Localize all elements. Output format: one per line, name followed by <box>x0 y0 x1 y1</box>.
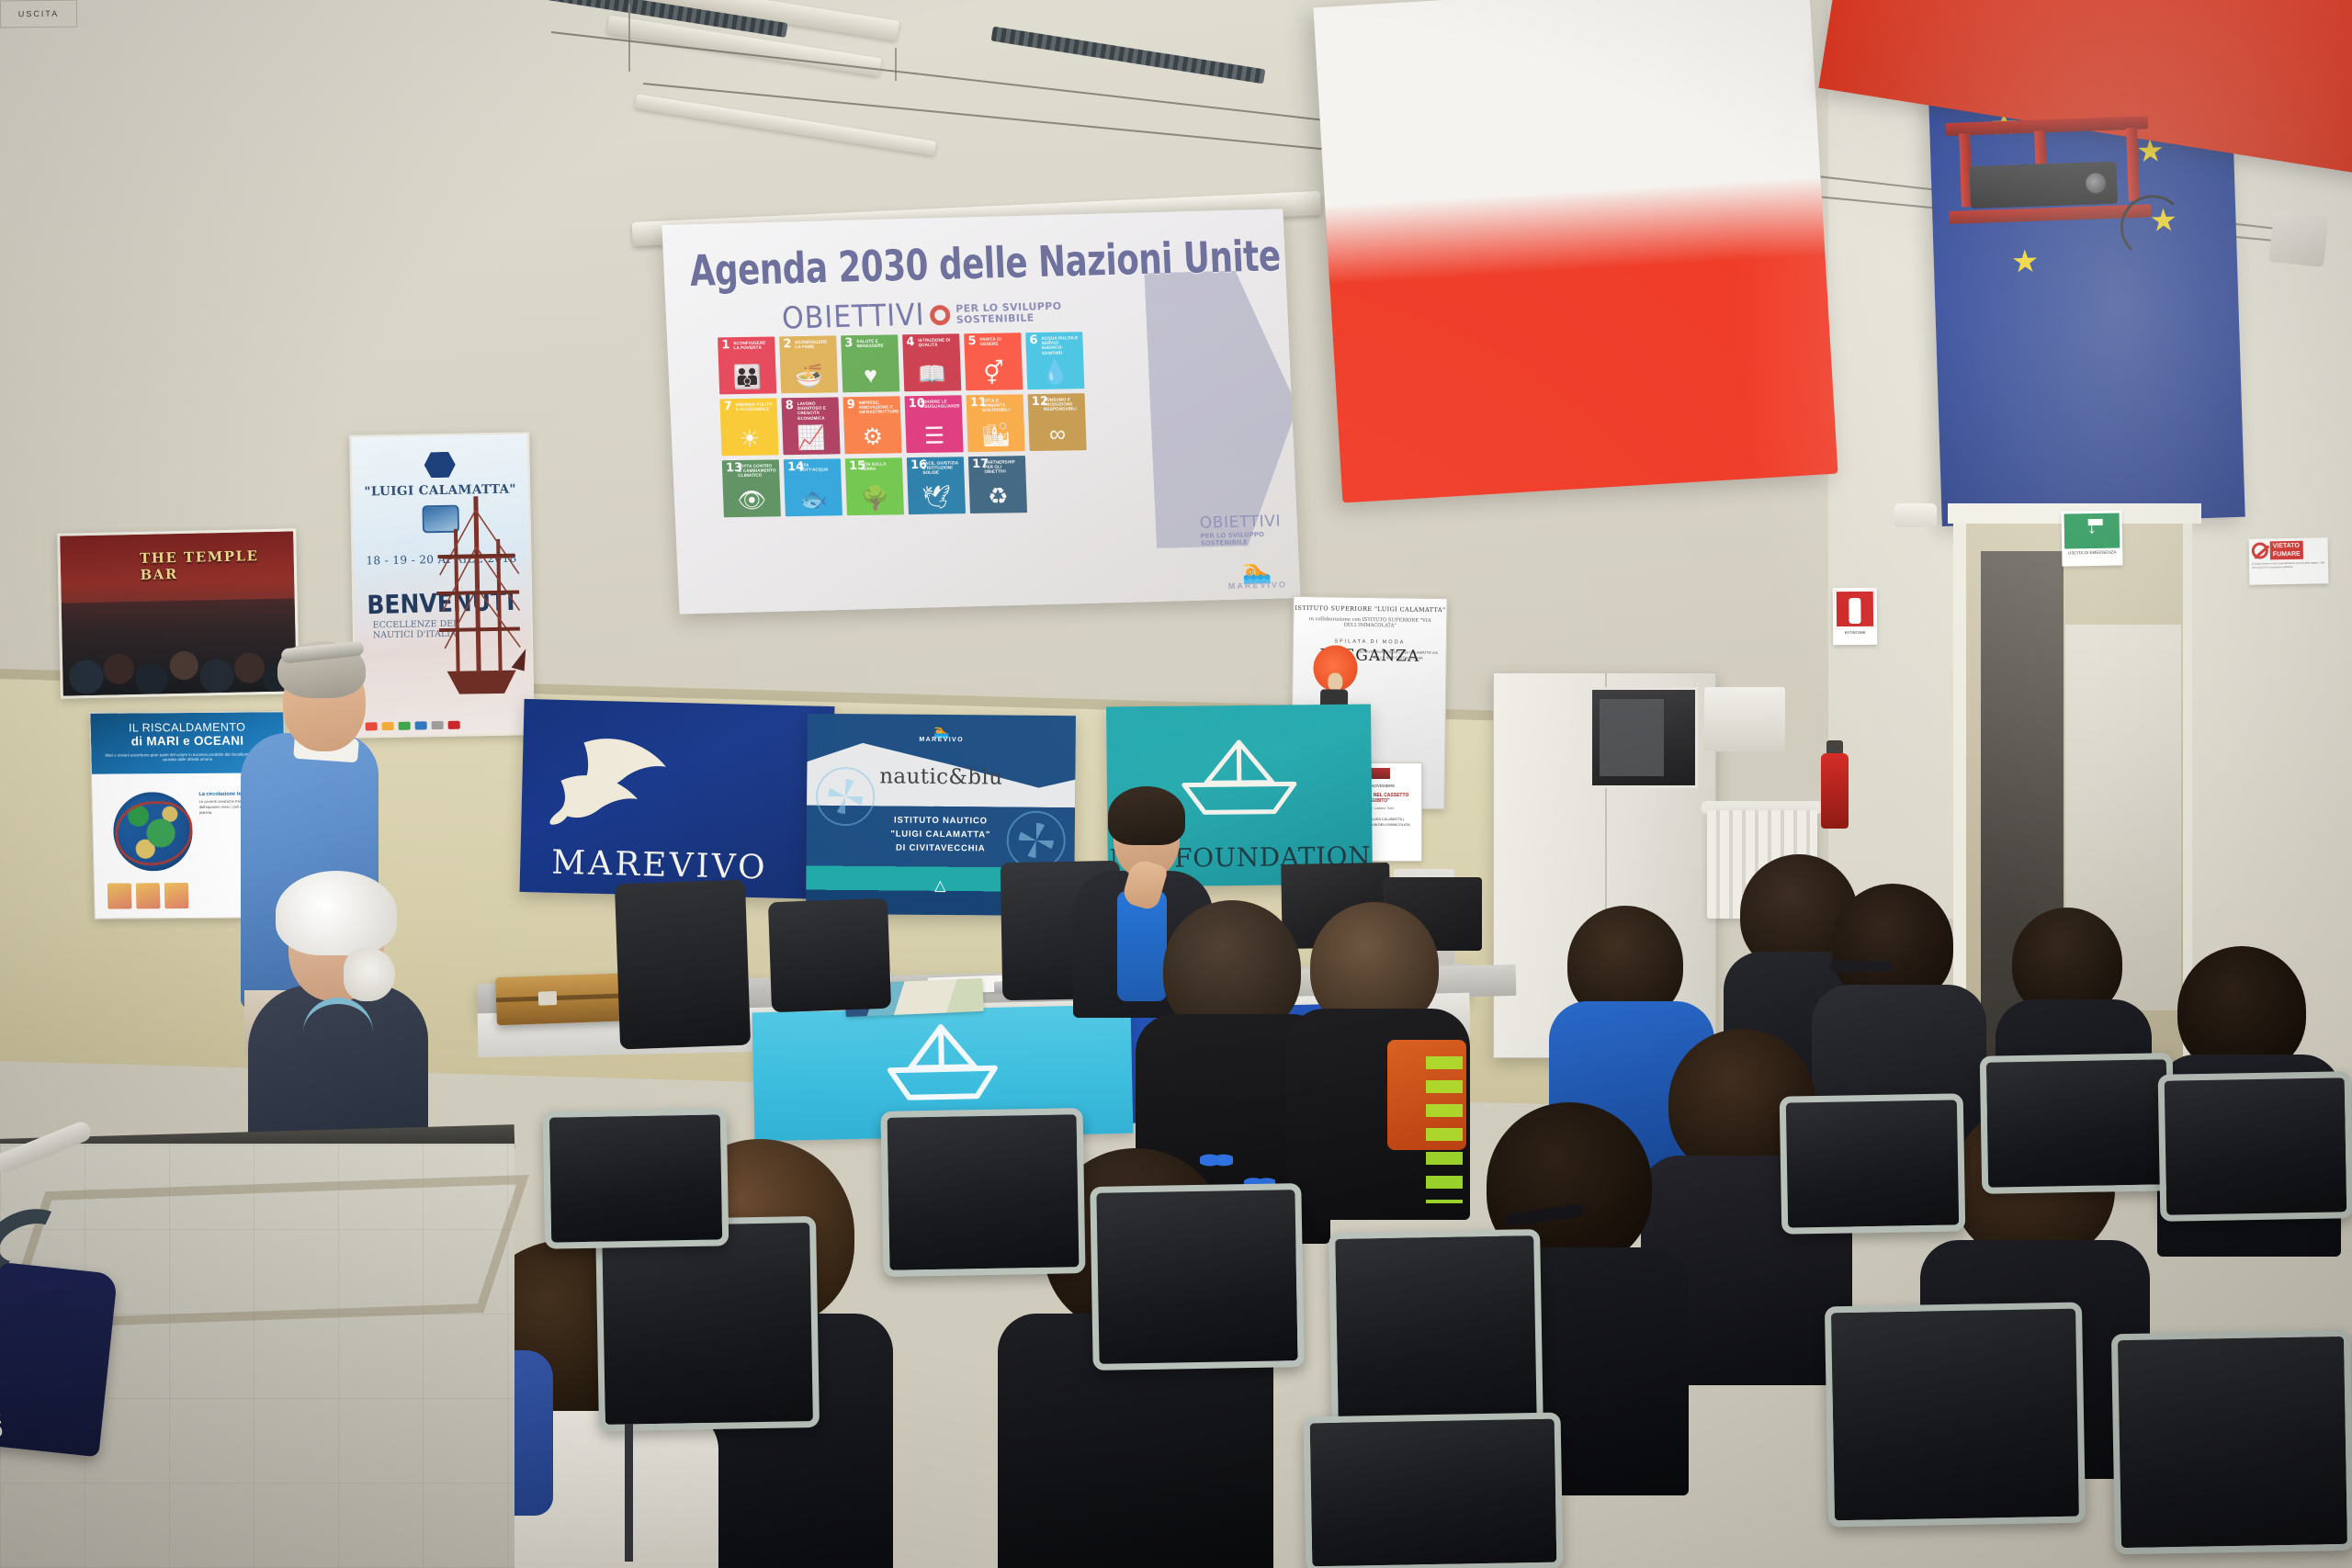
microwave-door-glass <box>1600 699 1664 776</box>
eleganza-header2: in collaborazione con ISTITUTO SUPERIORE… <box>1294 616 1446 629</box>
obiettivi-subtitle: PER LO SVILUPPO SOSTENIBILE <box>955 301 1062 325</box>
exit-pictogram-icon <box>2064 513 2120 548</box>
sdg-goal-10: 10RIDURRE LE DISUGUAGLIANZE☰ <box>904 395 963 453</box>
audience-member-2 <box>1286 902 1470 1214</box>
chair-behind-table-1[interactable] <box>615 880 751 1050</box>
risc-e: e <box>179 734 194 748</box>
eleganza-header1: ISTITUTO SUPERIORE "LUIGI CALAMATTA" <box>1294 604 1446 614</box>
sdg-goal-grid: 1SCONFIGGERE LA POVERTÀ👪2SCONFIGGERE LA … <box>718 332 1089 517</box>
sdg-goal-glyph-icon: 📈 <box>783 426 841 450</box>
risc-oceani: OCEANI <box>194 734 244 748</box>
sdg-goal-number: 2 <box>783 338 792 350</box>
sdg-goal-16: 16PACE, GIUSTIZIA E ISTITUZIONI SOLIDE🕊 <box>907 457 966 514</box>
thumb-2 <box>136 883 161 908</box>
sdg-goal-label: ENERGIA PULITA E ACCESSIBILE <box>736 401 775 412</box>
nautic-top-logo-text: MAREVIVO <box>919 737 964 743</box>
sdg-goal-8: 8LAVORO DIGNITOSO E CRESCITA ECONOMICA📈 <box>781 397 840 455</box>
no-smoking-text: VIETATO FUMARE <box>2270 541 2303 560</box>
slide-agenda-2030: Agenda 2030 delle Nazioni Unite OBIETTIV… <box>661 209 1300 614</box>
seat-row-right-2[interactable] <box>1980 1053 2176 1194</box>
sdg-goal-6: 6ACQUA PULITA E SERVIZI IGIENICO-SANITAR… <box>1025 332 1084 389</box>
sdg-ring-icon <box>930 304 951 325</box>
nautic-line3: DI CIVITAVECCHIA <box>807 840 1075 857</box>
extinguisher-sign-label: ESTINTORE <box>1835 630 1875 635</box>
sdg-goal-7: 7ENERGIA PULITA E ACCESSIBILE☀ <box>719 398 778 456</box>
fire-extinguisher[interactable] <box>1821 753 1849 829</box>
sdg-goal-label: ACQUA PULITA E SERVIZI IGIENICO-SANITARI <box>1041 335 1080 355</box>
dolphin-icon: 🏊 <box>1227 559 1287 581</box>
risc-mari: MARI <box>146 734 179 748</box>
sdg-goal-glyph-icon: ☰ <box>906 424 964 448</box>
tall-ship-illustration <box>425 472 530 704</box>
sdg-goal-glyph-icon: 📖 <box>903 363 961 387</box>
seat-row-mid-3[interactable] <box>1090 1183 1304 1371</box>
nautic-marevivo-logo: 🏊 MAREVIVO <box>919 726 964 743</box>
sdg-goal-label: CITTÀ E COMUNITÀ SOSTENIBILI <box>982 398 1022 412</box>
sdg-goal-label: LOTTA CONTRO IL CAMBIAMENTO CLIMATICO <box>738 463 777 478</box>
sponsor-logo-6 <box>448 721 460 729</box>
slide-marevivo-logo: 🏊 MAREVIVO <box>1227 559 1287 591</box>
nautic-blu-lines: ISTITUTO NAUTICO "LUIGI CALAMATTA" DI CI… <box>807 813 1075 857</box>
projection-screen: Agenda 2030 delle Nazioni Unite OBIETTIV… <box>661 209 1300 614</box>
sdg-goal-12: 12CONSUMO E PRODUZIONE RESPONSABILI∞ <box>1028 393 1087 451</box>
italian-flag <box>1313 0 1837 503</box>
sdg-goal-17: 17PARTNERSHIP PER GLI OBIETTIVI♻ <box>968 456 1027 513</box>
sdg-goal-number: 8 <box>786 400 795 412</box>
smoke-detector-icon <box>1894 503 1937 527</box>
temple-bar-sign-text: THE TEMPLE BAR <box>140 547 294 584</box>
riscaldamento-thumbnails <box>107 883 189 909</box>
sdg-goal-glyph-icon: 🕊 <box>908 486 966 510</box>
sdg-goal-number: 6 <box>1029 334 1038 346</box>
no-smoking-line1: VIETATO <box>2273 543 2300 550</box>
sdg-goal-glyph-icon: 🏙 <box>967 423 1025 447</box>
sdg-goal-number: 3 <box>844 337 854 349</box>
seat-leg-3 <box>625 1424 633 1562</box>
seat-row-right-3[interactable] <box>2158 1071 2352 1222</box>
slide-obiettivi-header: OBIETTIVI PER LO SVILUPPO SOSTENIBILE <box>781 296 1062 335</box>
sdg-goal-label: SCONFIGGERE LA FAME <box>795 339 833 349</box>
seat-row-mid-1[interactable] <box>543 1108 729 1248</box>
sponsor-logo-3 <box>399 722 411 730</box>
classroom-presentation-scene: Agenda 2030 delle Nazioni Unite OBIETTIV… <box>0 0 2352 1568</box>
extinguisher-sign: ESTINTORE <box>1833 588 1878 645</box>
sdg-goal-glyph-icon: ♻ <box>969 485 1027 509</box>
nautic-blu-title: nautic&blu <box>807 764 1075 791</box>
sdg-goal-glyph-icon: 🌳 <box>846 487 904 511</box>
eu-star-4: ★ <box>2010 246 2040 278</box>
sdg-goal-4: 4ISTRUZIONE DI QUALITÀ📖 <box>902 333 961 391</box>
seat-row-right-1[interactable] <box>1780 1093 1966 1234</box>
slide-logo-name: MAREVIVO <box>1228 580 1287 591</box>
sdg-goal-label: IMPRESE, INNOVAZIONE E INFRASTRUTTURE <box>859 400 899 414</box>
white-hair <box>276 871 397 955</box>
light-hanger-wire-2 <box>895 48 897 81</box>
nautic-footer-logo: MSC FOUNDATION <box>912 898 967 905</box>
sdg-goal-11: 11CITTÀ E COMUNITÀ SOSTENIBILI🏙 <box>966 394 1024 452</box>
extinguisher-pictogram-icon <box>1835 590 1875 628</box>
seat-row-front-3[interactable] <box>595 1216 820 1431</box>
sdg-goal-15: 15VITA SULLA TERRA🌳 <box>845 457 904 515</box>
sdg-goal-glyph-icon: ♥ <box>842 364 899 388</box>
no-smoking-sign: VIETATO FUMARE È vietato fumare in tutti… <box>2249 537 2329 584</box>
inset-crest-icon <box>1370 768 1390 779</box>
sdg-goal-label: PARITÀ DI GENERE <box>979 336 1018 346</box>
sdg-goal-glyph-icon: 🐟 <box>785 488 842 512</box>
sdg-goal-label: SCONFIGGERE LA POVERTÀ <box>733 340 772 350</box>
sdg-goal-number: 9 <box>847 399 856 411</box>
paper-boat-icon-small: △ <box>934 876 945 895</box>
sponsor-logo-5 <box>432 721 444 729</box>
sdg-goal-glyph-icon: ∞ <box>1029 423 1087 446</box>
sdg-goal-glyph-icon: 🍜 <box>780 365 838 389</box>
seat-row-back-far-right[interactable] <box>2111 1330 2352 1555</box>
bag-label: MAREVIVO <box>0 1343 6 1440</box>
exit-sign-label: USCITA DI EMERGENZA <box>2064 549 2120 555</box>
sdg-goal-3: 3SALUTE E BENESSERE♥ <box>841 334 899 392</box>
sdg-footer-tag: OBIETTIVI PER LO SVILUPPO SOSTENIBILE <box>1199 512 1300 547</box>
glasses-icon <box>1830 961 1893 972</box>
sdg-goal-5: 5PARITÀ DI GENERE⚥ <box>964 333 1023 390</box>
printer[interactable] <box>1704 687 1785 751</box>
sponsor-logo-4 <box>415 721 427 729</box>
beard <box>344 948 395 1001</box>
paper-boat-icon <box>882 1021 1003 1104</box>
sdg-goal-label: CONSUMO E PRODUZIONE RESPONSABILI <box>1044 397 1083 412</box>
sdg-goal-2: 2SCONFIGGERE LA FAME🍜 <box>779 335 838 393</box>
sdg-goal-1: 1SCONFIGGERE LA POVERTÀ👪 <box>718 336 776 394</box>
sdg-goal-glyph-icon: 💧 <box>1026 361 1084 385</box>
risc-di: di <box>131 734 147 748</box>
marevivo-bag[interactable]: MAREVIVO <box>0 1262 118 1457</box>
no-smoking-row: VIETATO FUMARE <box>2252 540 2325 559</box>
sdg-goal-label: SALUTE E BENESSERE <box>856 338 895 348</box>
sdg-goal-glyph-icon: 👪 <box>718 366 776 389</box>
dolphin-icon-small: 🏊 <box>919 726 964 737</box>
slide-arrow-shape <box>1144 269 1300 548</box>
sdg-goal-number: 1 <box>721 339 730 351</box>
seat-row-mid-4[interactable] <box>1329 1229 1543 1435</box>
sdg-goal-label: ISTRUZIONE DI QUALITÀ <box>918 337 956 347</box>
dark-hair <box>1108 786 1185 845</box>
sdg-goal-number: 5 <box>967 335 977 347</box>
seat-row-mid-2[interactable] <box>880 1108 1085 1277</box>
sdg-goal-glyph-icon: ⚥ <box>965 362 1023 386</box>
light-hanger-wire-1 <box>628 4 630 72</box>
dolphin-icon <box>545 726 685 830</box>
ceiling-projector-mount <box>1946 116 2161 243</box>
obiettivi-sub-line2: SOSTENIBILE <box>955 311 1034 325</box>
wall-speaker <box>2268 210 2329 267</box>
projector-post-right <box>2126 128 2140 201</box>
wall-plate-sign: USCITA <box>0 0 77 28</box>
sdg-goal-label: RIDURRE LE DISUGUAGLIANZE <box>921 399 959 409</box>
sdg-goal-glyph-icon: 👁 <box>723 489 781 513</box>
obiettivi-word: OBIETTIVI <box>781 298 925 337</box>
seat-row-back-mid[interactable] <box>1304 1413 1564 1568</box>
thumb-1 <box>107 883 132 908</box>
sdg-goal-label: VITA SOTT'ACQUA <box>799 462 838 472</box>
sdg-goal-9: 9IMPRESE, INNOVAZIONE E INFRASTRUTTURE⚙ <box>842 396 901 454</box>
briefcase-latch-left <box>538 991 558 1006</box>
no-smoking-fine-print: È vietato fumare in tutti i locali dell'… <box>2252 561 2325 570</box>
sdg-goal-number: 7 <box>723 400 732 412</box>
sdg-goal-label: PARTNERSHIP PER GLI OBIETTIVI <box>984 459 1023 474</box>
emergency-exit-sign: USCITA DI EMERGENZA <box>2061 510 2122 566</box>
sdg-goal-label: PACE, GIUSTIZIA E ISTITUZIONI SOLIDE <box>922 460 962 475</box>
no-smoking-line2: FUMARE <box>2273 551 2301 558</box>
sdg-goal-13: 13LOTTA CONTRO IL CAMBIAMENTO CLIMATICO👁 <box>722 459 781 517</box>
sdg-goal-label: LAVORO DIGNITOSO E CRESCITA ECONOMICA <box>797 400 837 420</box>
sdg-goal-glyph-icon: ⚙ <box>844 425 902 449</box>
banner-marevivo: MAREVIVO <box>519 699 834 899</box>
seat-row-back-right[interactable] <box>1825 1303 2086 1528</box>
sdg-goal-14: 14VITA SOTT'ACQUA🐟 <box>784 458 842 516</box>
sdg-goal-number: 4 <box>906 336 915 348</box>
no-smoking-icon <box>2252 542 2268 558</box>
thumb-3 <box>164 883 189 908</box>
eleganza-body-text: ISTITUTO SUPERIORE LUIGI CALAMATTA VIA D… <box>1356 649 1441 661</box>
sdg-footer-line3: SOSTENIBILE <box>1201 537 1301 547</box>
chair-behind-table-2[interactable] <box>768 898 891 1012</box>
microwave-oven[interactable] <box>1589 687 1698 788</box>
sdg-goal-label: VITA SULLA TERRA <box>861 461 899 471</box>
sdg-goal-glyph-icon: ☀ <box>721 427 779 451</box>
